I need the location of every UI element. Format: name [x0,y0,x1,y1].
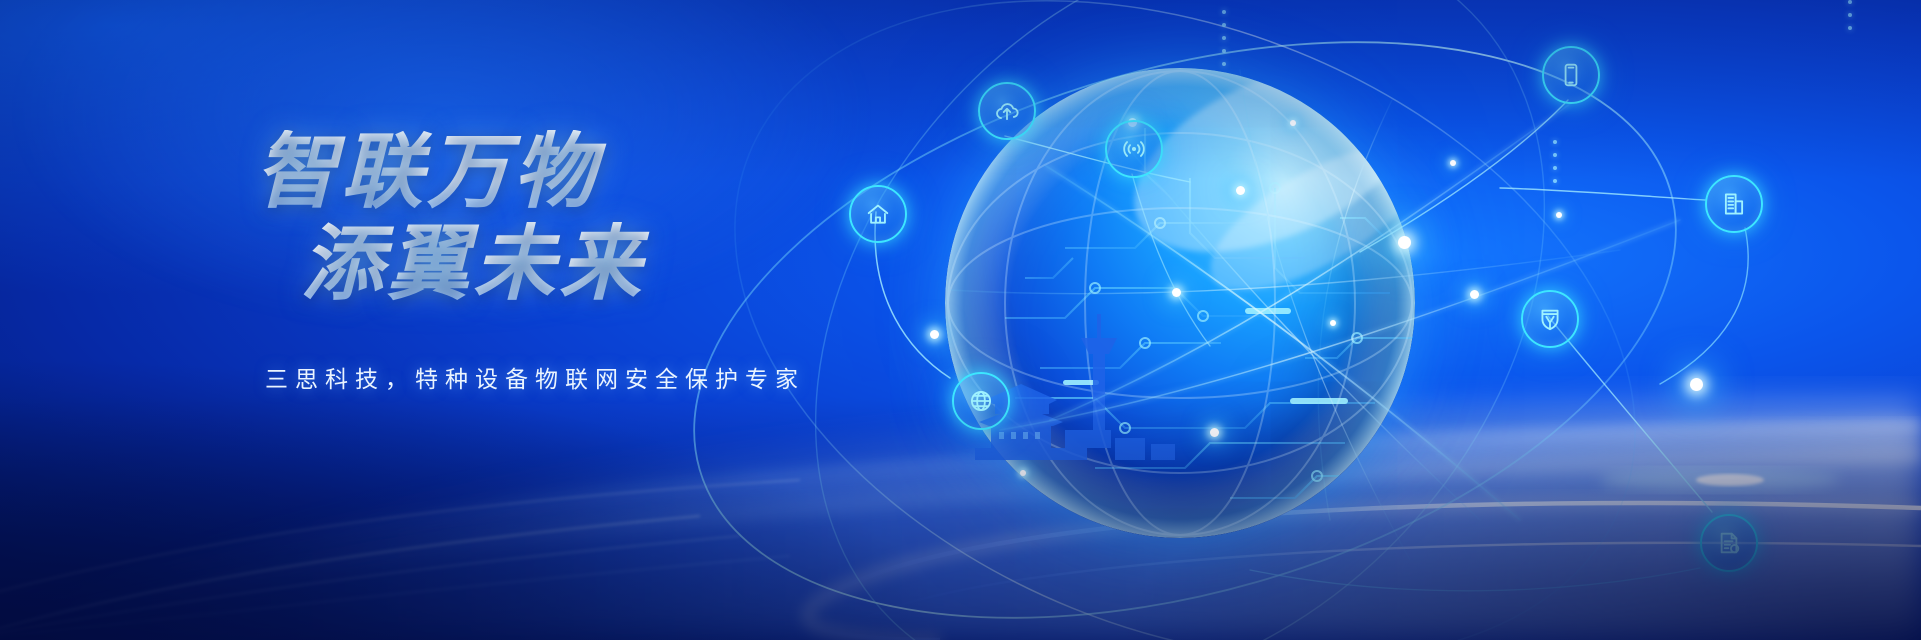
wifi-signal-icon [1121,136,1147,162]
headline-line-2: 添翼未来 [301,222,1015,308]
building-icon [1721,191,1747,217]
document-report-icon [1716,530,1742,556]
shield-icon [1537,306,1563,332]
page-title: 智联万物 添翼未来 [255,130,1015,308]
hero-copy: 智联万物 添翼未来 三思科技，特种设备物联网安全保护专家 [255,130,1015,394]
node-document-report[interactable] [1700,514,1758,572]
node-shield[interactable] [1521,290,1579,348]
node-wifi-signal[interactable] [1105,120,1163,178]
hero-subtitle: 三思科技，特种设备物联网安全保护专家 [265,360,1015,394]
mobile-phone-icon [1558,62,1584,88]
headline-line-1: 智联万物 [255,130,1015,216]
node-building[interactable] [1705,175,1763,233]
hero-banner: 智联万物 添翼未来 三思科技，特种设备物联网安全保护专家 [0,0,1921,640]
cloud-upload-icon [994,98,1020,124]
node-mobile-phone[interactable] [1542,46,1600,104]
